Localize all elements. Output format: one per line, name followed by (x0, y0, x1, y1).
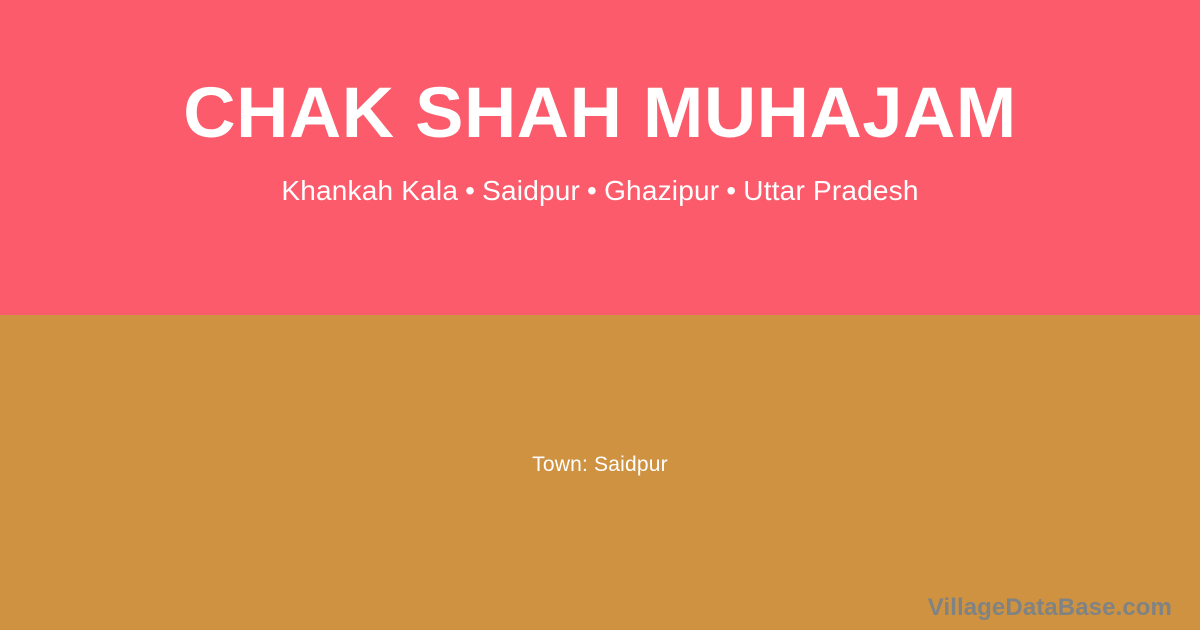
breadcrumb-item-state: Uttar Pradesh (743, 175, 918, 206)
breadcrumb-item-village: Khankah Kala (281, 175, 458, 206)
card-body: Town: Saidpur VillageDataBase.com (0, 315, 1200, 630)
breadcrumb-item-district: Ghazipur (604, 175, 719, 206)
header-content: CHAK SHAH MUHAJAM Khankah Kala•Saidpur•G… (0, 78, 1200, 208)
card-header: CHAK SHAH MUHAJAM Khankah Kala•Saidpur•G… (0, 0, 1200, 315)
town-detail: Town: Saidpur (532, 453, 668, 477)
breadcrumb: Khankah Kala•Saidpur•Ghazipur•Uttar Prad… (30, 174, 1170, 208)
breadcrumb-separator: • (580, 174, 604, 208)
breadcrumb-separator: • (458, 174, 482, 208)
site-watermark: VillageDataBase.com (928, 594, 1172, 622)
breadcrumb-item-town: Saidpur (482, 175, 580, 206)
body-center-wrap: Town: Saidpur (0, 315, 1200, 630)
page-title: CHAK SHAH MUHAJAM (19, 78, 1182, 149)
breadcrumb-separator: • (719, 174, 743, 208)
village-info-card: CHAK SHAH MUHAJAM Khankah Kala•Saidpur•G… (0, 0, 1200, 630)
